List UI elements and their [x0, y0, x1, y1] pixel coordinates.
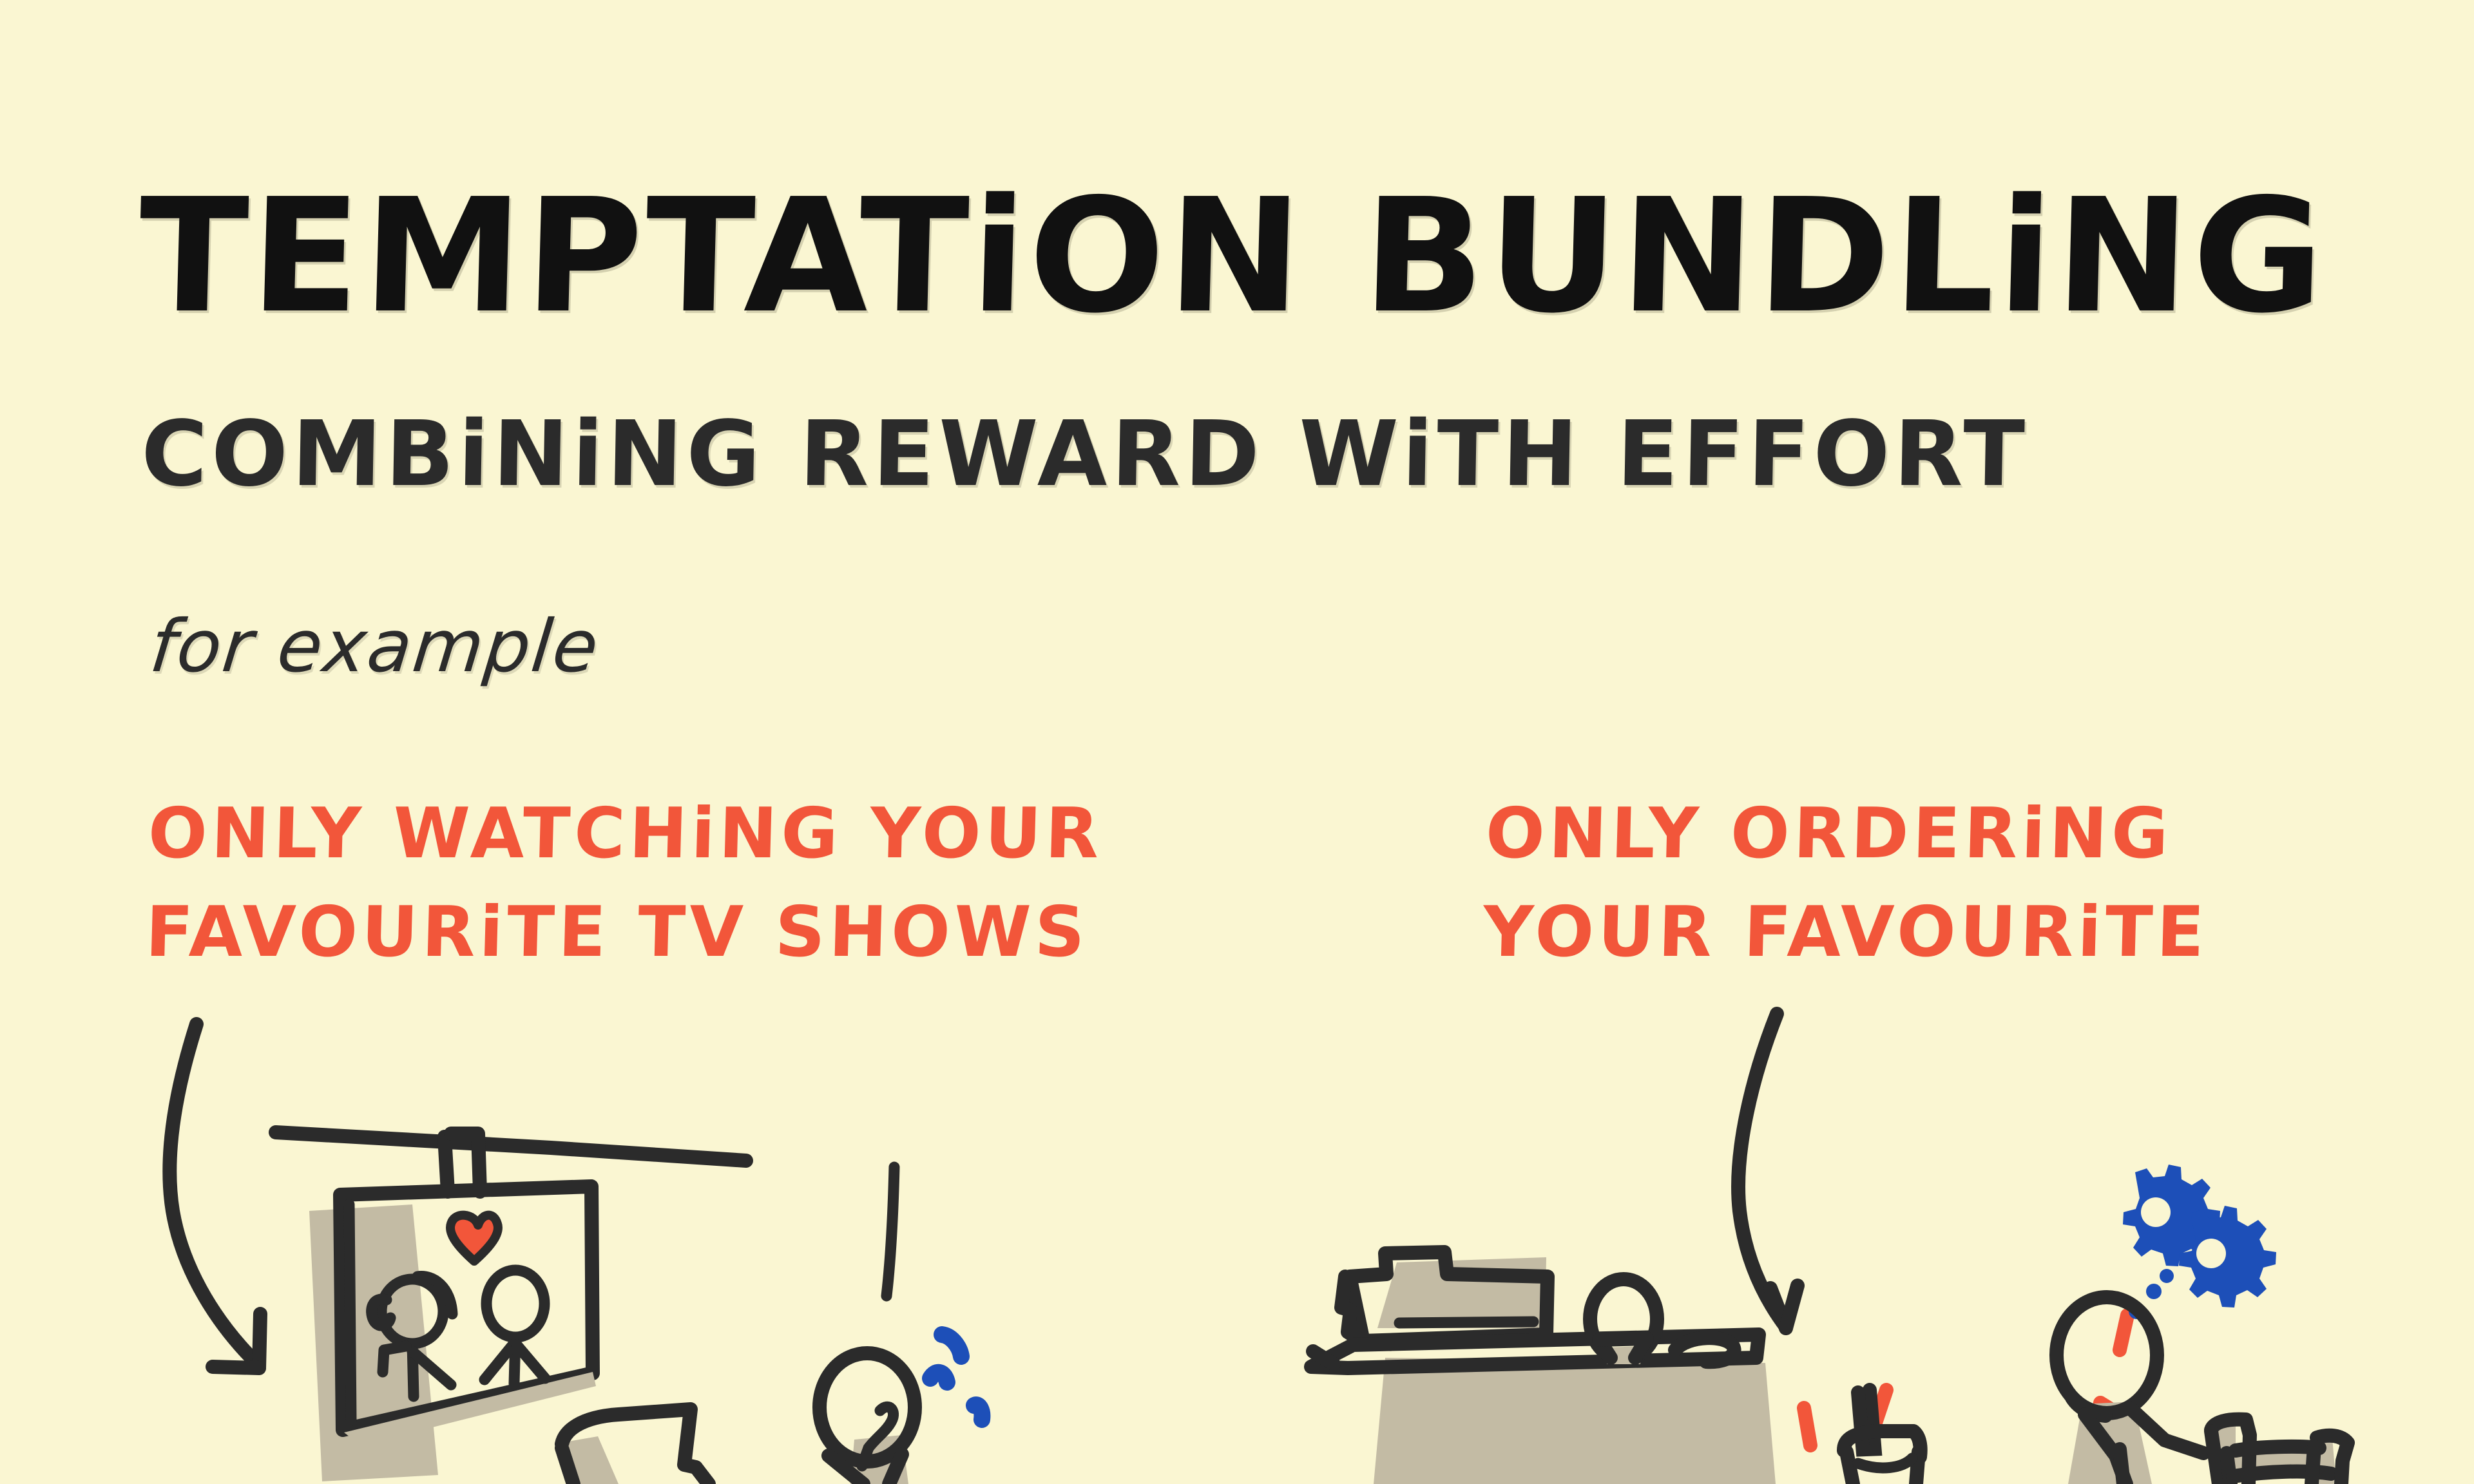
sketchnote-canvas: TEMPTATiON BUNDLiNG COMBiNiNG REWARD WiT… — [0, 0, 2474, 1484]
laptop-outline — [562, 1409, 709, 1484]
person-at-table — [2057, 1297, 2203, 1484]
monitor-icon — [1341, 1252, 1548, 1341]
tv-screen-stick-figures — [372, 1270, 545, 1396]
curved-arrow-icon-left — [169, 1024, 260, 1368]
lead-in-text: for example — [147, 611, 602, 683]
blue-motion-marks — [930, 1335, 982, 1420]
person-head-left — [820, 1353, 915, 1484]
seated-person-right — [1590, 1279, 1734, 1364]
wall-mounted-tv — [340, 1186, 596, 1445]
caption-tv-scene: ONLY WATCHiNG YOUR FAVOURiTE TV SHOWS — [144, 785, 1104, 982]
curved-arrow-icon-right — [1738, 1014, 1798, 1328]
page-title: TEMPTATiON BUNDLiNG — [137, 178, 2328, 335]
gears-icon — [2123, 1165, 2276, 1319]
tv-shadow — [309, 1204, 438, 1481]
caption-ordering-scene: ONLY ORDERiNG YOUR FAVOURiTE — [1482, 785, 2212, 982]
page-subtitle: COMBiNiNG REWARD WiTH EFFORT — [140, 410, 2029, 500]
heart-icon — [450, 1215, 498, 1261]
vertical-stroke — [887, 1167, 894, 1296]
tv-wall-bracket — [276, 1132, 746, 1192]
desk-surface — [1311, 1335, 1759, 1368]
desk-shadow — [1374, 1358, 1776, 1484]
chair — [2211, 1420, 2348, 1484]
cup-with-straw-icon — [1844, 1390, 1921, 1484]
orange-burst-lines — [1804, 1315, 2127, 1445]
